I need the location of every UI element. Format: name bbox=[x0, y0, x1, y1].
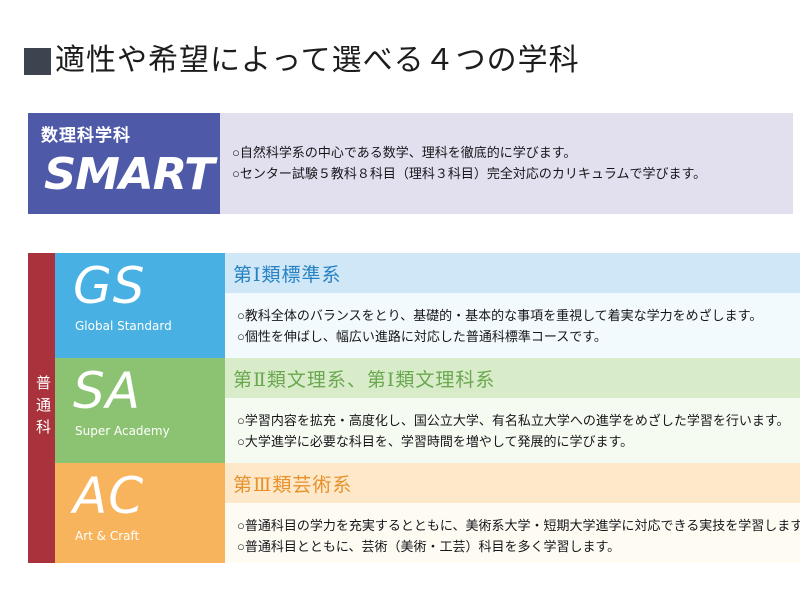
course-description-line: ○普通科目とともに、芸術（美術・工芸）科目を多く学習します。 bbox=[237, 536, 800, 557]
course-description: ○学習内容を拡充・高度化し、国公立大学、有名私立大学への進学をめざした学習を行い… bbox=[225, 398, 800, 463]
page-title-text: 適性や希望によって選べる４つの学科 bbox=[55, 46, 580, 76]
course-abbr: SA bbox=[73, 366, 141, 416]
course-abbr: AC bbox=[73, 471, 144, 521]
course-full-name: Global Standard bbox=[75, 319, 172, 333]
course-badge-gs: GS Global Standard bbox=[55, 253, 225, 358]
course-description-line: ○教科全体のバランスをとり、基礎的・基本的な事項を重視して着実な学力をめざします… bbox=[237, 305, 800, 326]
course-row-gs: GS Global Standard 第Ⅰ類標準系 ○教科全体のバランスをとり、… bbox=[55, 253, 800, 358]
course-badge-ac: AC Art & Craft bbox=[55, 463, 225, 563]
page-title: 適性や希望によって選べる４つの学科 bbox=[24, 46, 580, 76]
smart-description-line: ○自然科学系の中心である数学、理科を徹底的に学びます。 bbox=[232, 142, 787, 163]
course-heading-text: 第Ⅲ類芸術系 bbox=[233, 470, 352, 497]
general-course-sidebar: 普通科 bbox=[28, 253, 55, 563]
course-full-name: Super Academy bbox=[75, 424, 170, 438]
smart-description-line: ○センター試験５教科８科目（理科３科目）完全対応のカリキュラムで学びます。 bbox=[232, 163, 787, 184]
course-content-gs: 第Ⅰ類標準系 ○教科全体のバランスをとり、基礎的・基本的な事項を重視して着実な学… bbox=[225, 253, 800, 358]
course-full-name: Art & Craft bbox=[75, 529, 139, 543]
general-course-group: 普通科 GS Global Standard 第Ⅰ類標準系 ○教科全体のバランス… bbox=[28, 253, 793, 563]
course-heading-band: 第Ⅰ類標準系 bbox=[225, 253, 800, 293]
course-description: ○教科全体のバランスをとり、基礎的・基本的な事項を重視して着実な学力をめざします… bbox=[225, 293, 800, 358]
course-rows: GS Global Standard 第Ⅰ類標準系 ○教科全体のバランスをとり、… bbox=[55, 253, 800, 563]
course-heading-band: 第Ⅱ類文理系、第Ⅰ類文理科系 bbox=[225, 358, 800, 398]
course-badge-sa: SA Super Academy bbox=[55, 358, 225, 463]
smart-wordmark: SMART bbox=[44, 153, 214, 197]
smart-department-name: 数理科学科 bbox=[41, 121, 131, 146]
course-row-ac: AC Art & Craft 第Ⅲ類芸術系 ○普通科目の学力を充実するとともに、… bbox=[55, 463, 800, 563]
course-description-line: ○学習内容を拡充・高度化し、国公立大学、有名私立大学への進学をめざした学習を行い… bbox=[237, 410, 800, 431]
course-heading-text: 第Ⅱ類文理系、第Ⅰ類文理科系 bbox=[233, 365, 495, 392]
course-heading-text: 第Ⅰ類標準系 bbox=[233, 260, 342, 287]
course-description-line: ○大学進学に必要な科目を、学習時間を増やして発展的に学びます。 bbox=[237, 431, 800, 452]
course-abbr: GS bbox=[73, 261, 145, 311]
course-content-sa: 第Ⅱ類文理系、第Ⅰ類文理科系 ○学習内容を拡充・高度化し、国公立大学、有名私立大… bbox=[225, 358, 800, 463]
general-course-label: 普通科 bbox=[34, 375, 49, 441]
filled-square-icon bbox=[24, 48, 51, 75]
course-description-line: ○普通科目の学力を充実するとともに、美術系大学・短期大学進学に対応できる実技を学… bbox=[237, 515, 800, 536]
course-content-ac: 第Ⅲ類芸術系 ○普通科目の学力を充実するとともに、美術系大学・短期大学進学に対応… bbox=[225, 463, 800, 563]
smart-logo-panel: 数理科学科 SMART bbox=[28, 113, 220, 214]
course-description-line: ○個性を伸ばし、幅広い進路に対応した普通科標準コースです。 bbox=[237, 326, 800, 347]
course-row-sa: SA Super Academy 第Ⅱ類文理系、第Ⅰ類文理科系 ○学習内容を拡充… bbox=[55, 358, 800, 463]
course-description: ○普通科目の学力を充実するとともに、美術系大学・短期大学進学に対応できる実技を学… bbox=[225, 503, 800, 563]
smart-description-panel: ○自然科学系の中心である数学、理科を徹底的に学びます。 ○センター試験５教科８科… bbox=[220, 113, 793, 214]
brochure-page: 適性や希望によって選べる４つの学科 数理科学科 SMART ○自然科学系の中心で… bbox=[0, 0, 800, 600]
course-heading-band: 第Ⅲ類芸術系 bbox=[225, 463, 800, 503]
smart-department-row: 数理科学科 SMART ○自然科学系の中心である数学、理科を徹底的に学びます。 … bbox=[28, 113, 793, 214]
